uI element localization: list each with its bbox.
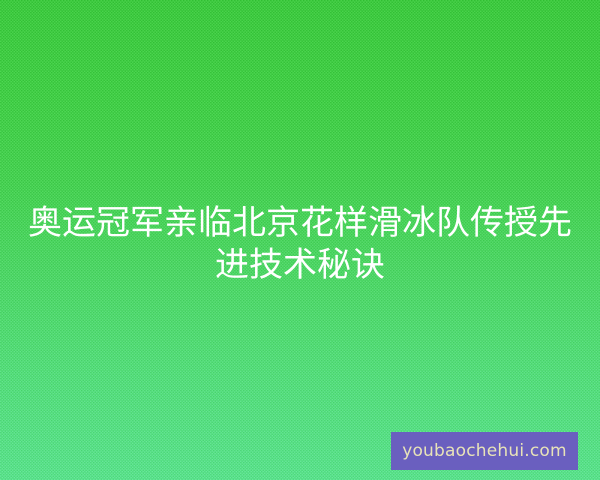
watermark-badge: youbaochehui.com [391, 432, 578, 470]
poster-headline-text: 奥运冠军亲临北京花样滑冰队传授先进技术秘诀 [0, 202, 600, 286]
watermark-url-label: youbaochehui.com [402, 443, 567, 460]
poster-image: 奥运冠军亲临北京花样滑冰队传授先进技术秘诀 youbaochehui.com [0, 0, 600, 480]
